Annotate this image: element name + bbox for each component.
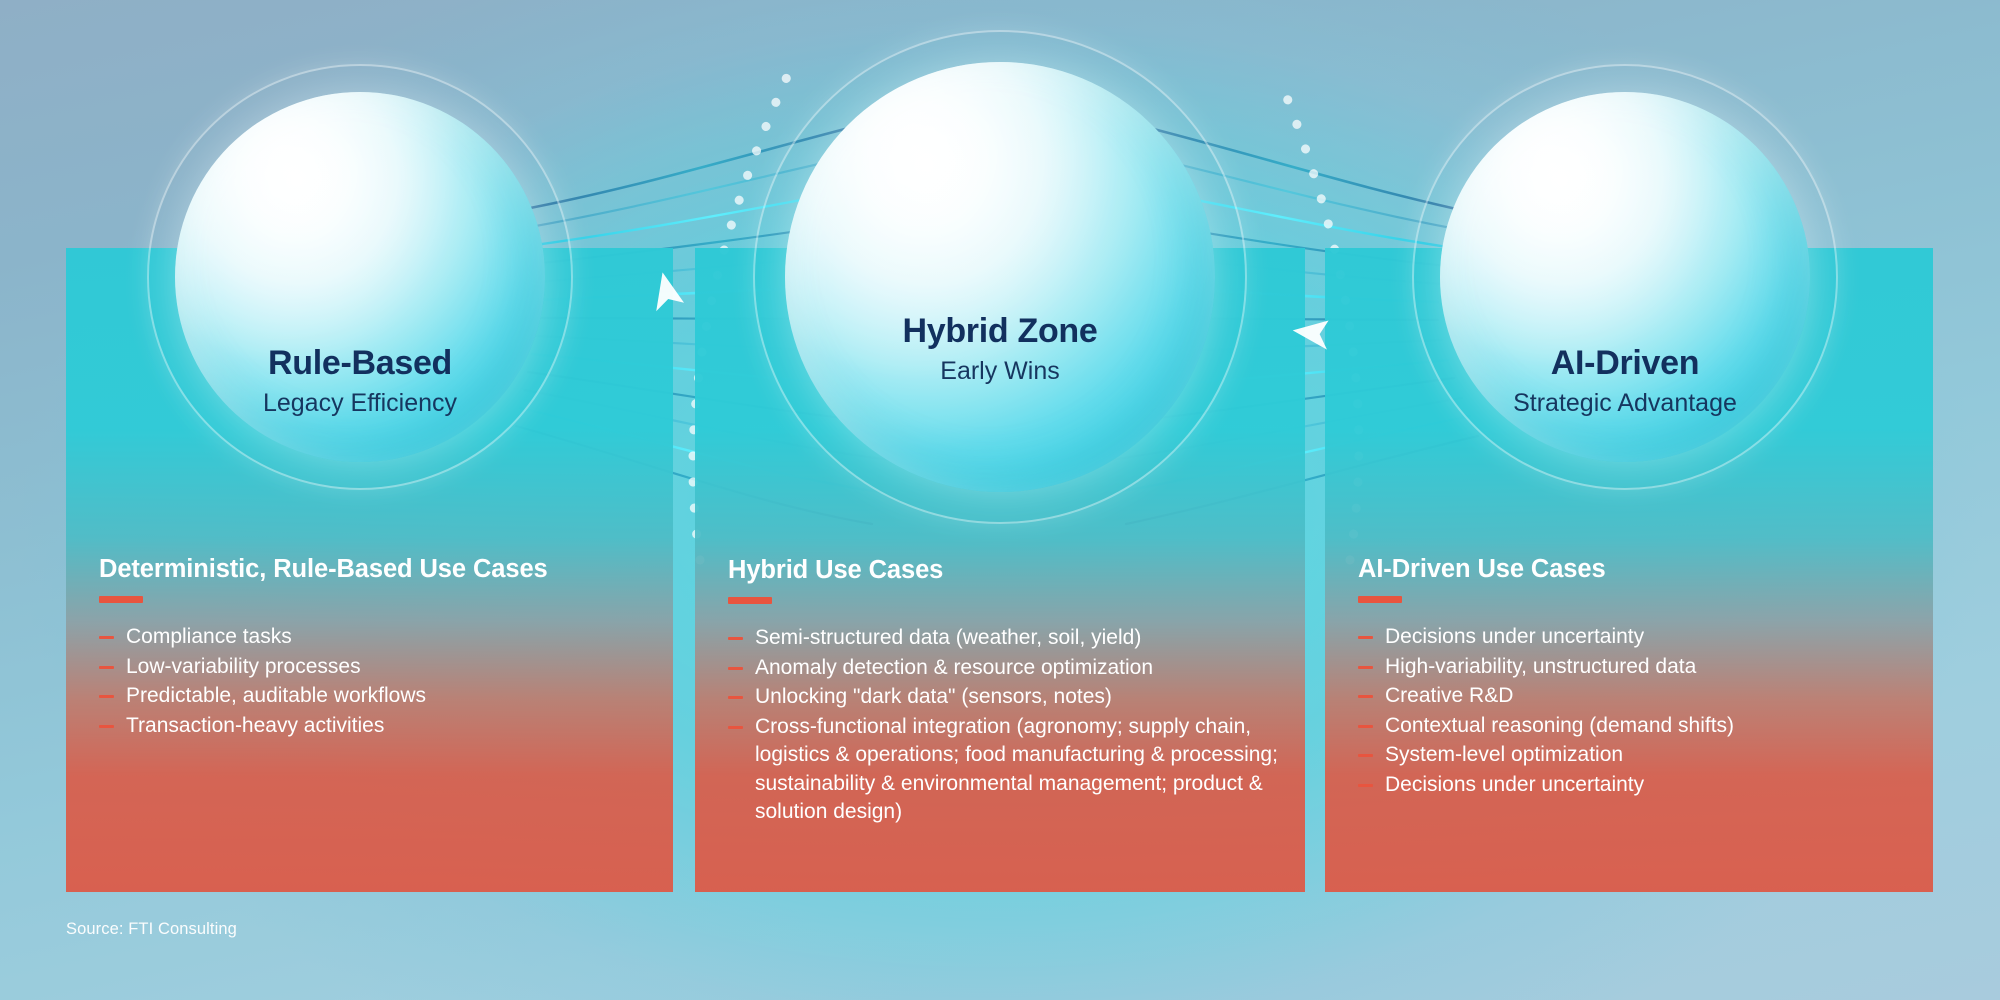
- panel-heading: Deterministic, Rule-Based Use Cases: [99, 555, 649, 584]
- list-item: Low-variability processes: [99, 653, 649, 682]
- list-item: Contextual reasoning (demand shifts): [1358, 712, 1909, 741]
- dash-bullet-icon: [99, 666, 114, 669]
- node-label-group: Rule-Based Legacy Efficiency: [175, 344, 545, 418]
- list-item-label: Unlocking "dark data" (sensors, notes): [755, 683, 1281, 712]
- list-item: Compliance tasks: [99, 623, 649, 652]
- node-subtitle: Legacy Efficiency: [175, 388, 545, 418]
- node-label-group: AI-Driven Strategic Advantage: [1440, 344, 1810, 418]
- node-subtitle: Strategic Advantage: [1440, 388, 1810, 418]
- source-note: Source: FTI Consulting: [66, 920, 237, 939]
- dash-bullet-icon: [1358, 784, 1373, 787]
- list-item-label: Cross-functional integration (agronomy; …: [755, 713, 1281, 827]
- node-subtitle: Early Wins: [785, 356, 1215, 386]
- infographic-stage: Deterministic, Rule-Based Use Cases Comp…: [0, 0, 2000, 1000]
- dash-bullet-icon: [1358, 695, 1373, 698]
- list-item-label: Semi-structured data (weather, soil, yie…: [755, 624, 1281, 653]
- list-item-label: Creative R&D: [1385, 682, 1909, 711]
- list-item: Predictable, auditable workflows: [99, 682, 649, 711]
- dash-bullet-icon: [728, 696, 743, 699]
- node-title: AI-Driven: [1440, 344, 1810, 382]
- list-item-label: Decisions under uncertainty: [1385, 623, 1909, 652]
- list-item-label: Transaction-heavy activities: [126, 712, 649, 741]
- list-item-label: System-level optimization: [1385, 741, 1909, 770]
- list-item-label: Decisions under uncertainty: [1385, 771, 1909, 800]
- dash-bullet-icon: [1358, 754, 1373, 757]
- dash-bullet-icon: [728, 726, 743, 729]
- panel-body: AI-Driven Use Cases Decisions under unce…: [1358, 555, 1909, 800]
- list-item: Decisions under uncertainty: [1358, 771, 1909, 800]
- use-case-list: Decisions under uncertainty High-variabi…: [1358, 623, 1909, 799]
- list-item: Cross-functional integration (agronomy; …: [728, 713, 1281, 827]
- dash-bullet-icon: [1358, 636, 1373, 639]
- heading-accent-rule: [728, 597, 772, 604]
- panel-body: Hybrid Use Cases Semi-structured data (w…: [728, 556, 1281, 828]
- heading-accent-rule: [1358, 596, 1402, 603]
- dash-bullet-icon: [99, 636, 114, 639]
- list-item-label: Anomaly detection & resource optimizatio…: [755, 654, 1281, 683]
- panel-body: Deterministic, Rule-Based Use Cases Comp…: [99, 555, 649, 741]
- list-item-label: Predictable, auditable workflows: [126, 682, 649, 711]
- dash-bullet-icon: [99, 725, 114, 728]
- node-label-group: Hybrid Zone Early Wins: [785, 312, 1215, 386]
- list-item: Transaction-heavy activities: [99, 712, 649, 741]
- dash-bullet-icon: [1358, 725, 1373, 728]
- panel-heading: AI-Driven Use Cases: [1358, 555, 1909, 584]
- dash-bullet-icon: [728, 667, 743, 670]
- node-rule-based: Rule-Based Legacy Efficiency: [175, 92, 545, 462]
- use-case-list: Compliance tasks Low-variability process…: [99, 623, 649, 740]
- list-item-label: Compliance tasks: [126, 623, 649, 652]
- sphere-node-icon: [785, 62, 1215, 492]
- list-item: Decisions under uncertainty: [1358, 623, 1909, 652]
- dash-bullet-icon: [99, 695, 114, 698]
- list-item: System-level optimization: [1358, 741, 1909, 770]
- dash-bullet-icon: [728, 637, 743, 640]
- panel-heading: Hybrid Use Cases: [728, 556, 1281, 585]
- list-item-label: Low-variability processes: [126, 653, 649, 682]
- node-title: Hybrid Zone: [785, 312, 1215, 350]
- list-item-label: Contextual reasoning (demand shifts): [1385, 712, 1909, 741]
- list-item: Semi-structured data (weather, soil, yie…: [728, 624, 1281, 653]
- node-ai-driven: AI-Driven Strategic Advantage: [1440, 92, 1810, 462]
- list-item: Anomaly detection & resource optimizatio…: [728, 654, 1281, 683]
- list-item-label: High-variability, unstructured data: [1385, 653, 1909, 682]
- node-title: Rule-Based: [175, 344, 545, 382]
- list-item: High-variability, unstructured data: [1358, 653, 1909, 682]
- list-item: Creative R&D: [1358, 682, 1909, 711]
- list-item: Unlocking "dark data" (sensors, notes): [728, 683, 1281, 712]
- dash-bullet-icon: [1358, 666, 1373, 669]
- heading-accent-rule: [99, 596, 143, 603]
- node-hybrid-zone: Hybrid Zone Early Wins: [785, 62, 1215, 492]
- use-case-list: Semi-structured data (weather, soil, yie…: [728, 624, 1281, 827]
